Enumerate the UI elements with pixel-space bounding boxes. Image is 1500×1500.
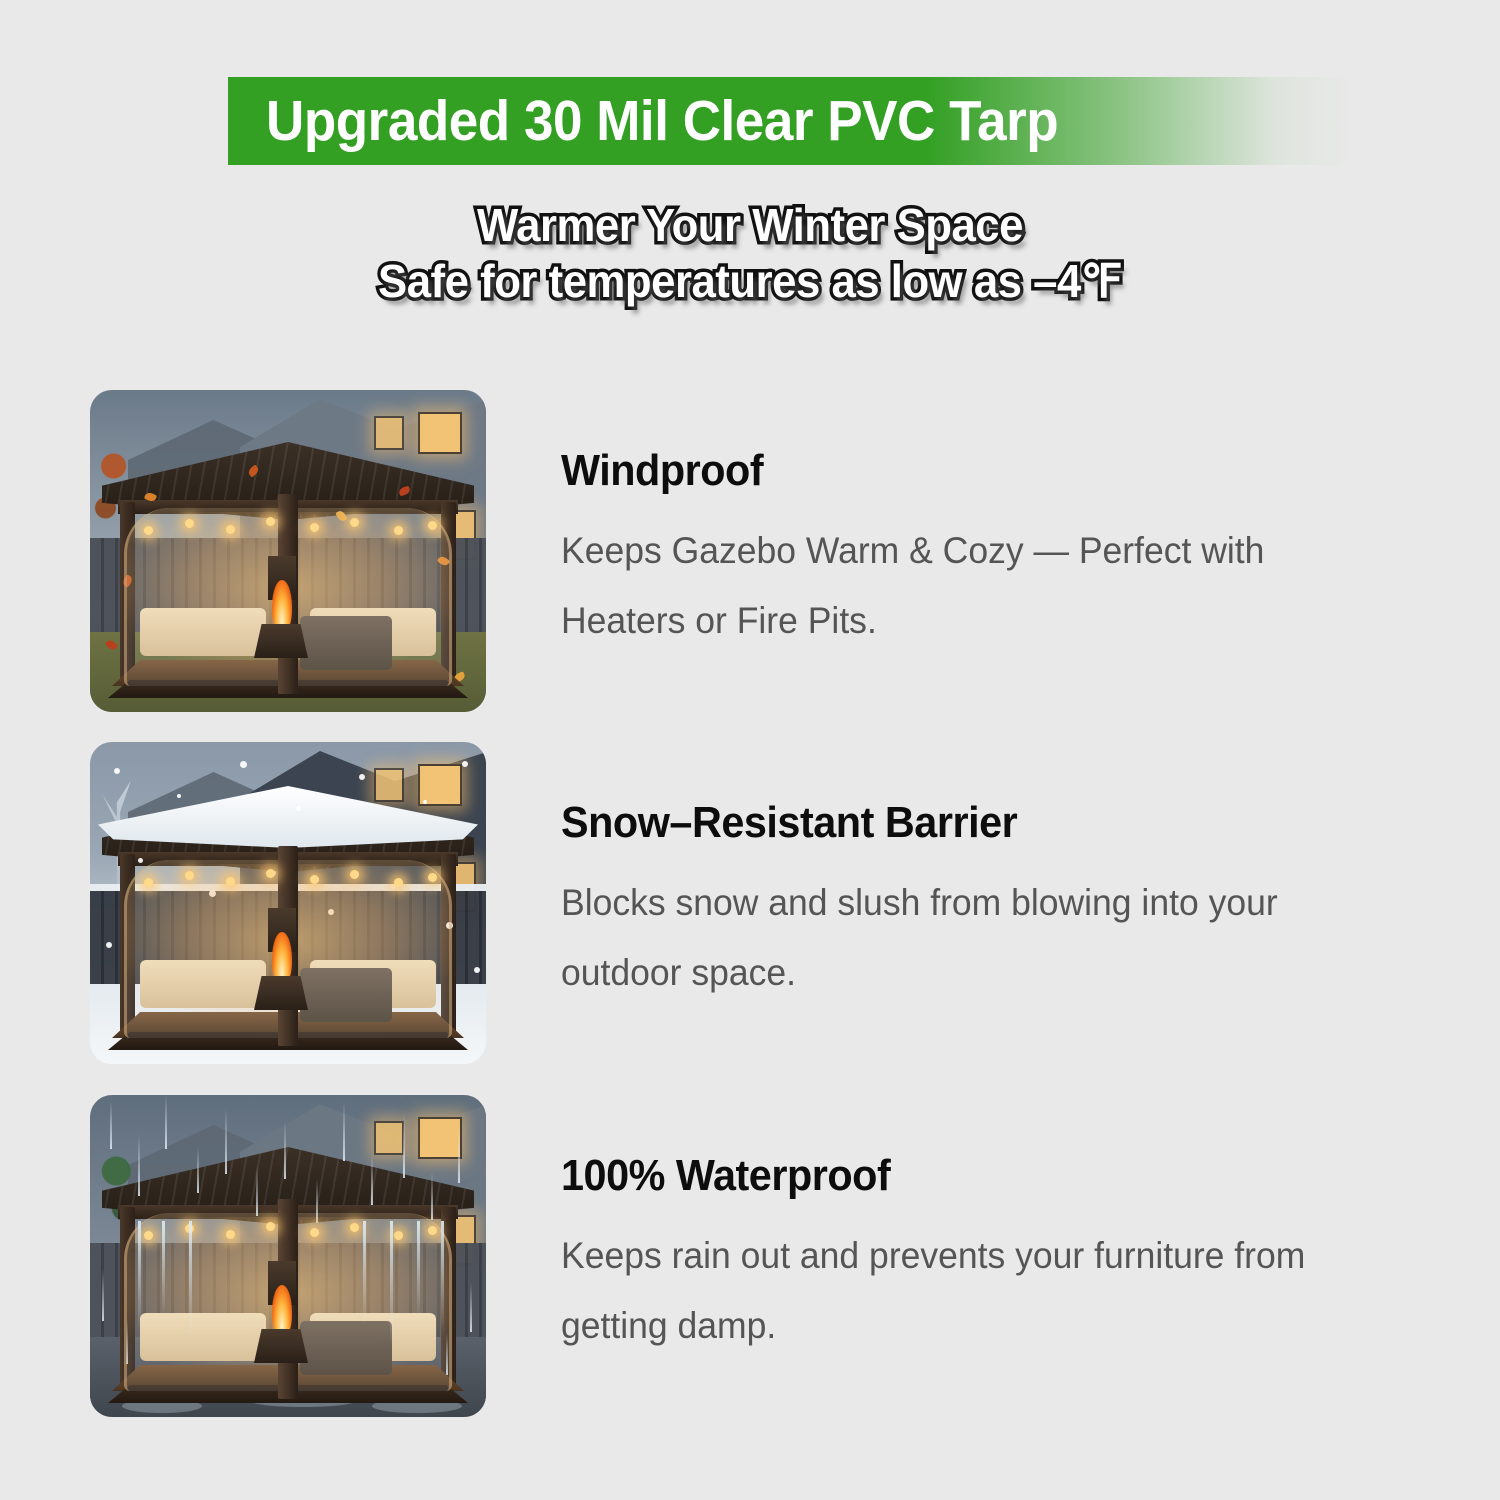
feature-heading: Snow–Resistant Barrier — [561, 798, 1369, 848]
feature-text: Snow–Resistant Barrier Blocks snow and s… — [561, 798, 1421, 1008]
armchair — [300, 968, 392, 1022]
string-lights — [132, 868, 444, 894]
gazebo-autumn-windy-photo — [90, 390, 486, 712]
banner-title: Upgraded 30 Mil Clear PVC Tarp — [266, 88, 1058, 154]
gazebo — [118, 794, 458, 1044]
product-infographic: { "page": { "background_color": "#e9e9e9… — [0, 0, 1500, 1500]
fire-pit — [254, 976, 308, 1010]
string-lights — [132, 516, 444, 542]
gazebo — [118, 442, 458, 692]
banner: Upgraded 30 Mil Clear PVC Tarp — [228, 77, 1356, 165]
feature-row-windproof: Windproof Keeps Gazebo Warm & Cozy — Per… — [90, 390, 1450, 712]
roof-snow-cap — [98, 786, 478, 848]
feature-body: Blocks snow and slush from blowing into … — [561, 868, 1387, 1008]
gazebo — [118, 1147, 458, 1397]
subtitle-line-2: Safe for temperatures as low as –4℉ — [38, 253, 1463, 309]
gazebo-rain-photo — [90, 1095, 486, 1417]
feature-heading: Windproof — [561, 446, 1369, 496]
feature-heading: 100% Waterproof — [561, 1151, 1369, 1201]
gazebo-snow-photo — [90, 742, 486, 1064]
fire-pit — [254, 624, 308, 658]
subtitle-line-1: Warmer Your Winter Space — [38, 197, 1463, 253]
feature-row-waterproof: 100% Waterproof Keeps rain out and preve… — [90, 1095, 1450, 1417]
subtitle-block: Warmer Your Winter Space Safe for temper… — [38, 197, 1463, 309]
armchair — [300, 616, 392, 670]
feature-text: 100% Waterproof Keeps rain out and preve… — [561, 1151, 1421, 1361]
feature-body: Keeps rain out and prevents your furnitu… — [561, 1221, 1387, 1361]
armchair — [300, 1321, 392, 1375]
feature-body: Keeps Gazebo Warm & Cozy — Perfect with … — [561, 516, 1387, 656]
string-lights — [132, 1221, 444, 1247]
feature-text: Windproof Keeps Gazebo Warm & Cozy — Per… — [561, 446, 1421, 656]
fire-pit — [254, 1329, 308, 1363]
feature-row-snow: Snow–Resistant Barrier Blocks snow and s… — [90, 742, 1450, 1064]
